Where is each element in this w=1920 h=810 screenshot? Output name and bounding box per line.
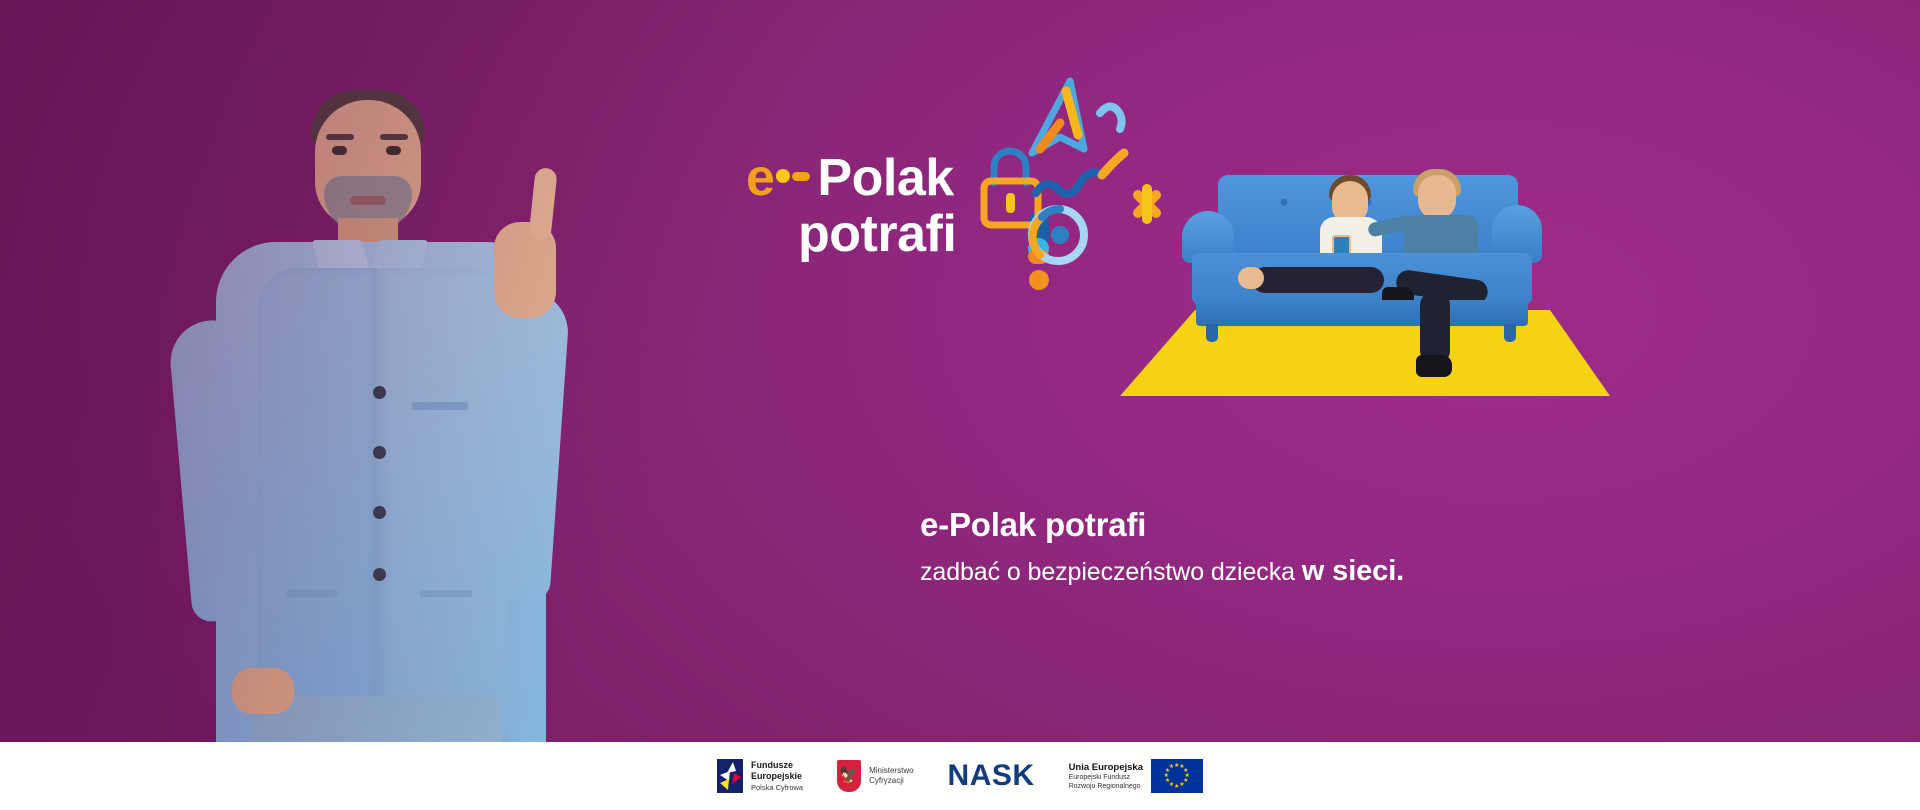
daughter-foot: [1238, 267, 1264, 289]
eu-star-icon: ★: [1174, 784, 1179, 790]
exclamation-dot: [1029, 270, 1049, 290]
brand-logo-line-1: e Polak: [746, 150, 954, 206]
banner-stage: e Polak potrafi: [0, 0, 1920, 742]
father-head: [1418, 175, 1456, 219]
presenter-mouth: [350, 196, 386, 205]
presenter-vest-pocket-lower-left: [286, 590, 338, 597]
at-sign-icon: [1032, 209, 1084, 261]
tagline-block: e-Polak potrafi zadbać o bezpieczeństwo …: [920, 505, 1560, 588]
presenter-eye-right: [386, 146, 401, 155]
brand-logo-e: e: [746, 149, 774, 207]
eu-star-icon: ★: [1164, 773, 1169, 779]
fe-line1: Fundusze: [751, 760, 803, 772]
sofa-leg-left: [1206, 324, 1218, 342]
footer-logo-strip: Fundusze Europejskie Polska Cyfrowa 🦅 Mi…: [0, 742, 1920, 810]
tagline-line-1: e-Polak potrafi: [920, 505, 1560, 545]
sofa-skirt: [1196, 300, 1528, 326]
short-squiggle-icon: [1100, 106, 1122, 129]
logo-ministerstwo-cyfryzacji: 🦅 Ministerstwo Cyfryzacji: [837, 760, 913, 792]
nask-wordmark: NASK: [948, 759, 1035, 793]
daughter-legs: [1252, 267, 1384, 293]
father-shoe-lower: [1416, 355, 1452, 377]
tagline-line-2: zadbać o bezpieczeństwo dziecka w sieci.: [920, 555, 1560, 588]
tagline-line-2-strong: w sieci.: [1302, 555, 1404, 587]
brand-logo-dash-dot: [776, 169, 816, 183]
eu-star-icon: ★: [1169, 764, 1174, 770]
ministerstwo-text: Ministerstwo Cyfryzacji: [869, 766, 913, 786]
min-line1: Ministerstwo: [869, 766, 913, 776]
family-photo-scene: [1110, 135, 1630, 445]
brand-logo-line-2: potrafi: [798, 206, 956, 262]
tagline-line-2-normal: zadbać o bezpieczeństwo dziecka: [920, 558, 1302, 586]
eu-flag-icon: ★★★★★★★★★★★★: [1151, 759, 1203, 793]
presenter-vest-button: [373, 506, 386, 519]
eu-star-icon: ★: [1179, 782, 1184, 788]
brand-logo-word-potrafi: potrafi: [798, 205, 956, 263]
cursor-arrow-icon: [1032, 81, 1084, 153]
brand-logo-dot: [776, 169, 790, 183]
padlock-icon: [984, 151, 1038, 225]
min-line2: Cyfryzacji: [869, 776, 913, 786]
logo-fundusze-europejskie: Fundusze Europejskie Polska Cyfrowa: [717, 759, 803, 793]
eu-star-icon: ★: [1165, 778, 1170, 784]
sofa-leg-right: [1504, 324, 1516, 342]
presenter-eye-left: [332, 146, 347, 155]
presenter-figure: [180, 90, 600, 742]
fe-sub: Polska Cyfrowa: [751, 783, 803, 793]
polish-eagle-emblem-icon: 🦅: [837, 760, 861, 792]
brand-logo-word-polak: Polak: [817, 149, 953, 207]
presenter-vest-button: [373, 386, 386, 399]
fe-line2: Europejskie: [751, 771, 803, 783]
campaign-banner: e Polak potrafi: [0, 0, 1920, 810]
presenter-vest-button: [373, 446, 386, 459]
fundusze-europejskie-mark: [717, 759, 743, 793]
logo-unia-europejska: Unia Europejska Europejski Fundusz Rozwo…: [1069, 759, 1203, 793]
eagle-glyph: 🦅: [839, 768, 859, 784]
ue-line1: Unia Europejska: [1069, 762, 1143, 773]
father-leg-down: [1420, 293, 1450, 363]
presenter-pointing-finger: [528, 167, 557, 241]
blue-sofa: [1182, 175, 1542, 340]
presenter-eyebrow-left: [326, 134, 354, 140]
fundusze-europejskie-text: Fundusze Europejskie Polska Cyfrowa: [751, 760, 803, 793]
brand-logo-dash: [792, 172, 810, 181]
presenter-vest-pocket-lower-right: [420, 590, 472, 597]
ue-sub2: Rozwoju Regionalnego: [1069, 782, 1143, 791]
presenter-vest-button: [373, 568, 386, 581]
presenter-lower-hand: [232, 668, 294, 714]
logo-nask: NASK: [948, 759, 1035, 793]
presenter-eyebrow-right: [380, 134, 408, 140]
presenter-vest-pocket: [412, 402, 468, 410]
unia-europejska-text: Unia Europejska Europejski Fundusz Rozwo…: [1069, 762, 1143, 791]
ue-sub1: Europejski Fundusz: [1069, 773, 1143, 782]
